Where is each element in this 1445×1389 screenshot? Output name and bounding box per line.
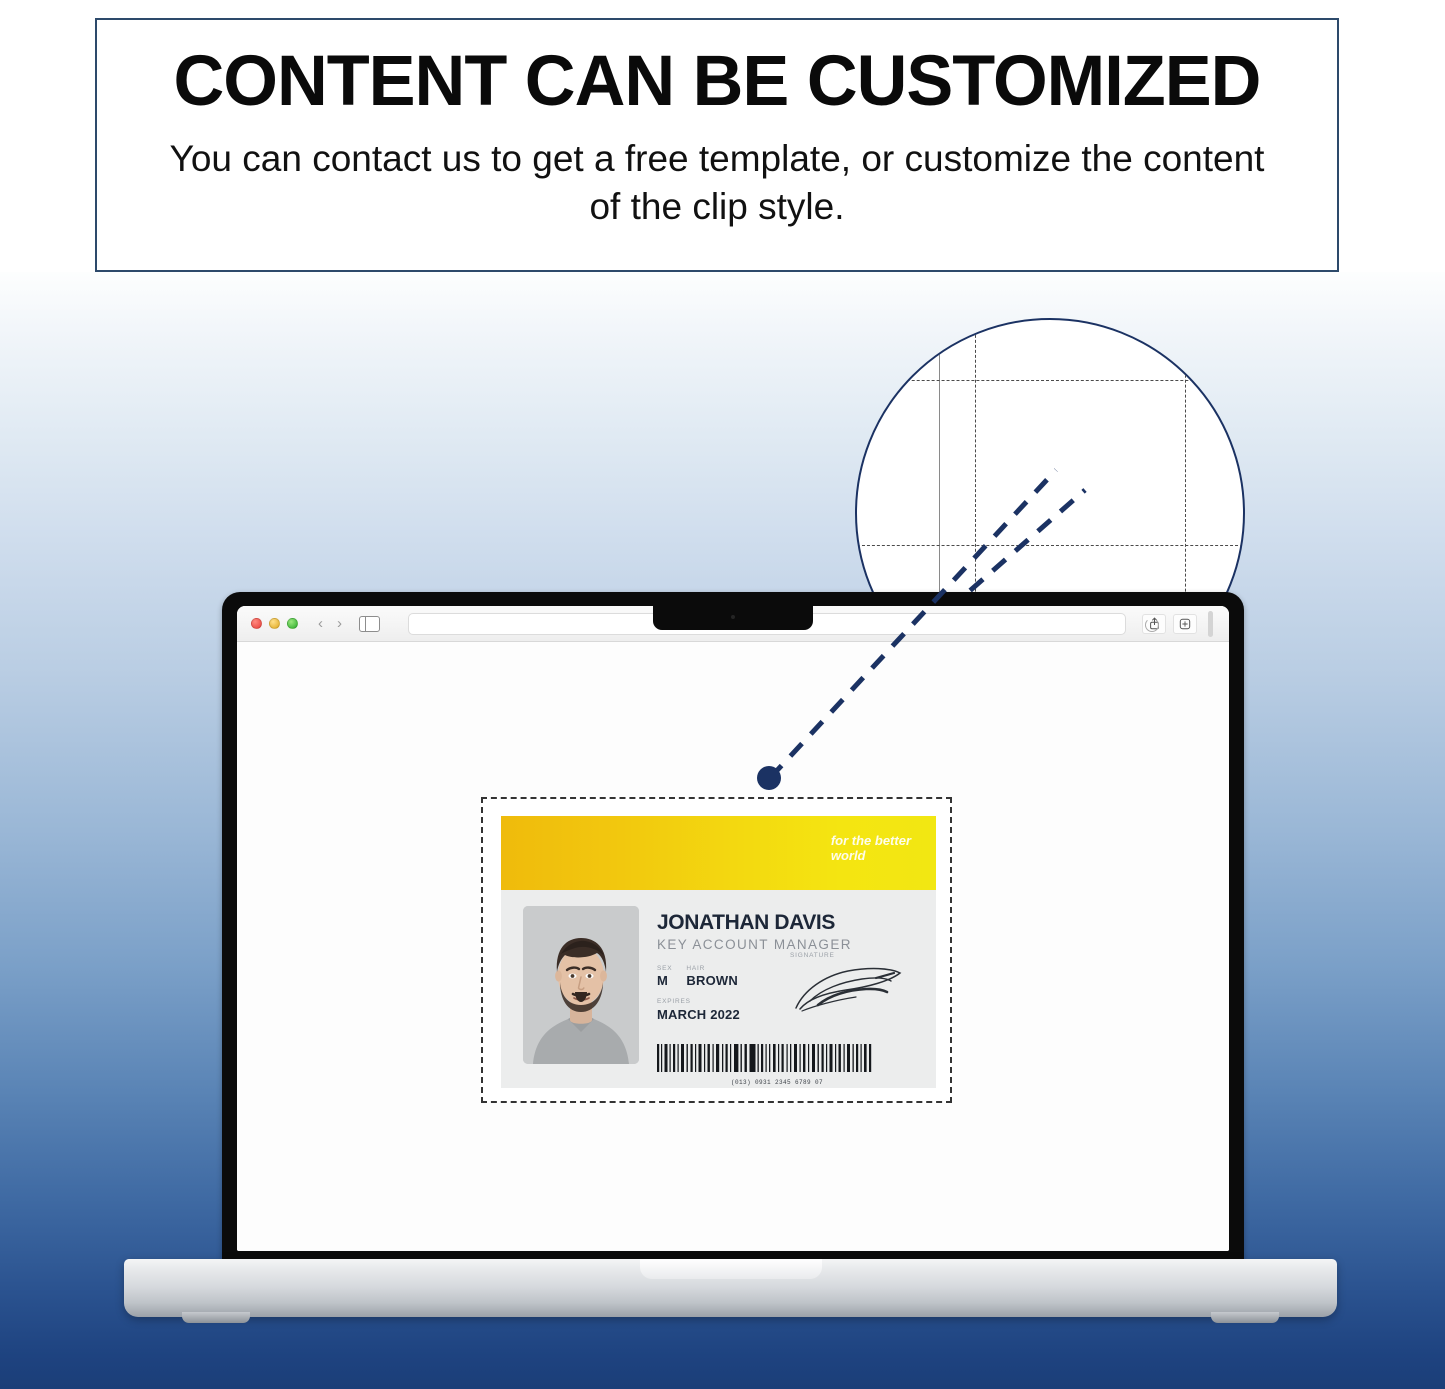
sex-value: M bbox=[657, 974, 672, 987]
navigation-buttons[interactable]: ‹ › bbox=[312, 614, 380, 634]
signature-mark bbox=[790, 959, 908, 1017]
id-card-crop-marks[interactable]: for the better world bbox=[481, 797, 952, 1103]
new-tab-icon[interactable] bbox=[1173, 614, 1197, 634]
signature-label: SIGNATURE bbox=[790, 952, 910, 959]
laptop-base-notch bbox=[640, 1259, 822, 1279]
sex-label: SEX bbox=[657, 966, 672, 973]
window-controls[interactable] bbox=[251, 618, 298, 629]
new-tab-glyph bbox=[1179, 618, 1191, 630]
maximize-button[interactable] bbox=[287, 618, 298, 629]
id-card-signature-block: SIGNATURE bbox=[790, 952, 910, 1022]
id-card-body: JONATHAN DAVIS KEY ACCOUNT MANAGER SEX M… bbox=[501, 890, 936, 1088]
laptop-foot-left bbox=[182, 1312, 250, 1323]
id-card-role: KEY ACCOUNT MANAGER bbox=[657, 938, 918, 952]
id-card-barcode-block: (013) 0931 2345 6789 07 bbox=[657, 1044, 875, 1086]
browser-toolbar: ‹ › bbox=[237, 606, 1229, 642]
id-card-field-hair: HAIR BROWN bbox=[686, 966, 738, 988]
id-card-color-band: for the better world bbox=[501, 816, 936, 890]
id-card-name: JONATHAN DAVIS bbox=[657, 912, 918, 933]
forward-icon[interactable]: › bbox=[331, 614, 348, 634]
hair-label: HAIR bbox=[686, 966, 738, 973]
scrollbar-thumb[interactable] bbox=[1208, 611, 1213, 637]
page-title: CONTENT CAN BE CUSTOMIZED bbox=[174, 44, 1261, 121]
back-icon[interactable]: ‹ bbox=[312, 614, 329, 634]
laptop-base bbox=[124, 1259, 1337, 1317]
minimize-button[interactable] bbox=[269, 618, 280, 629]
tagline-line-1: for the better bbox=[831, 834, 911, 849]
barcode-icon bbox=[657, 1044, 872, 1072]
id-card-info: JONATHAN DAVIS KEY ACCOUNT MANAGER SEX M… bbox=[657, 906, 918, 1088]
tagline-line-2: world bbox=[831, 849, 911, 864]
magnifier-dashed-hline-top bbox=[857, 380, 1243, 381]
header-banner: CONTENT CAN BE CUSTOMIZED You can contac… bbox=[95, 18, 1339, 272]
display-notch bbox=[653, 606, 813, 630]
sidebar-icon[interactable] bbox=[359, 616, 380, 632]
close-button[interactable] bbox=[251, 618, 262, 629]
portrait-illustration bbox=[523, 906, 639, 1064]
id-card-field-sex: SEX M bbox=[657, 966, 672, 988]
id-card-photo bbox=[523, 906, 639, 1064]
barcode-number: (013) 0931 2345 6789 07 bbox=[657, 1079, 875, 1086]
id-card[interactable]: for the better world bbox=[501, 816, 936, 1088]
page-subtitle: You can contact us to get a free templat… bbox=[157, 135, 1277, 231]
hair-value: BROWN bbox=[686, 974, 738, 987]
id-card-tagline: for the better world bbox=[831, 834, 911, 864]
reload-icon[interactable] bbox=[1145, 618, 1159, 632]
laptop-foot-right bbox=[1211, 1312, 1279, 1323]
pointer-anchor-dot bbox=[757, 766, 781, 790]
camera-icon bbox=[731, 615, 735, 619]
